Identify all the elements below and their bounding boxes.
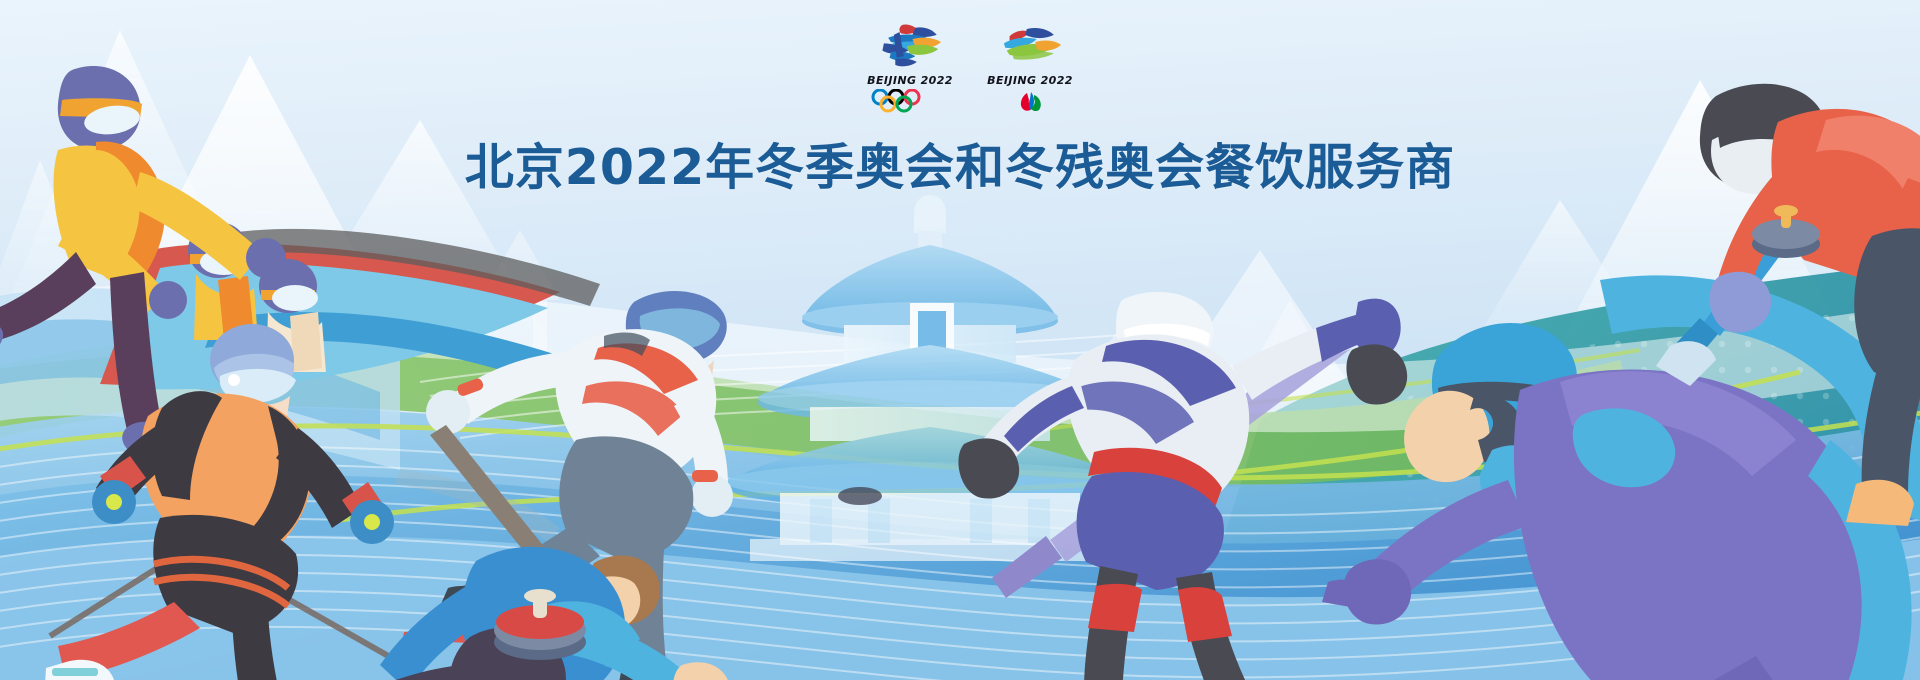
page-title: 北京2022年冬季奥会和冬残奥会餐饮服务商 [0, 128, 1920, 199]
olympic-wordmark: BEIJING 2022 [860, 74, 960, 87]
olympic-rings-icon [867, 89, 953, 113]
beijing-2022-olympic-emblem: BEIJING 2022 [860, 22, 960, 113]
beijing-2022-paralympic-emblem: BEIJING 2022 [980, 22, 1080, 113]
paralympic-emblem-mark [991, 22, 1070, 72]
paralympic-wordmark: BEIJING 2022 [980, 74, 1080, 87]
olympic-emblem-mark [871, 22, 950, 72]
paralympic-agitos-icon [987, 89, 1073, 113]
emblem-row: BEIJING 2022 BEIJING 2022 [860, 22, 1080, 118]
beijing-2022-catering-banner: BEIJING 2022 BEIJING 2022 [0, 0, 1920, 680]
